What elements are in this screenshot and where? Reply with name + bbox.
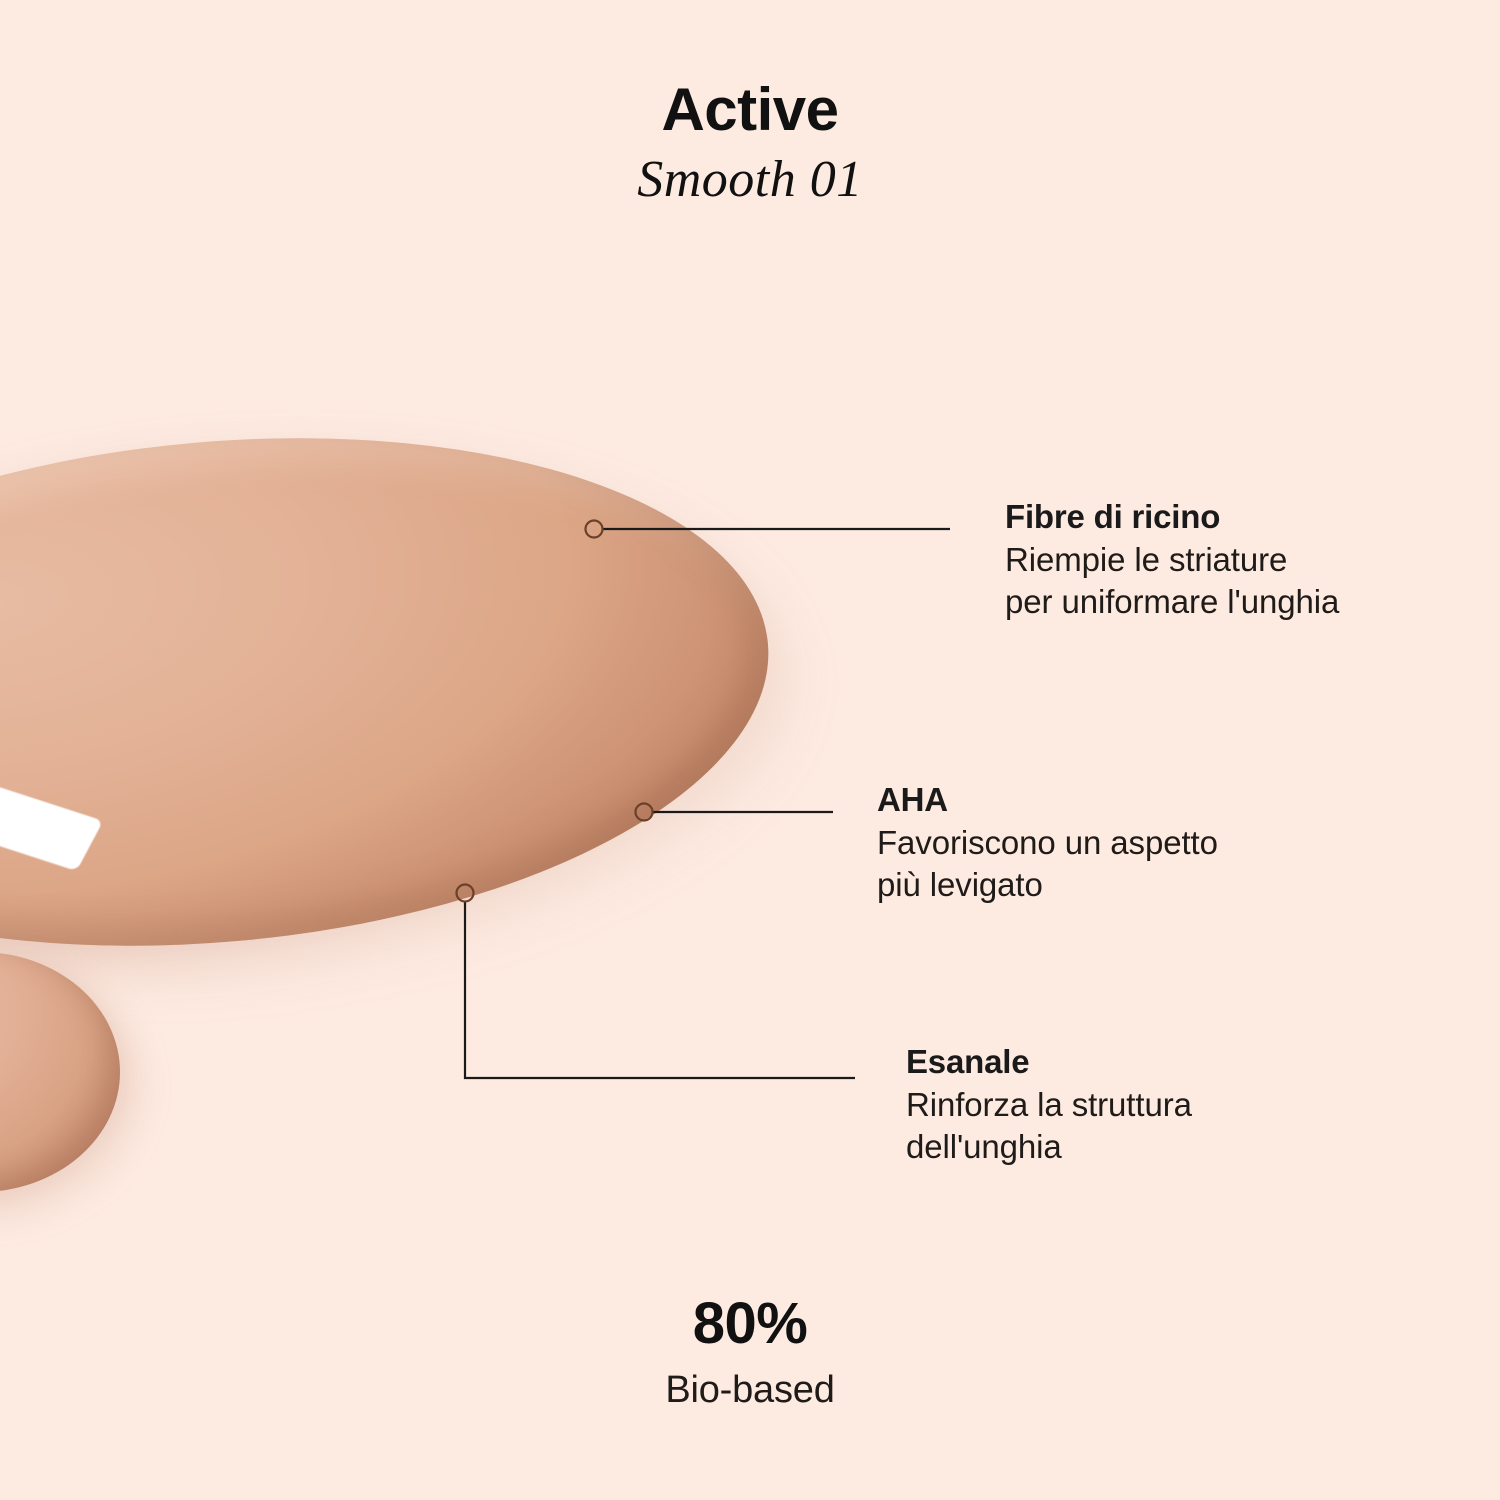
callout-title: Fibre di ricino (1005, 497, 1339, 537)
leader-lines (0, 0, 1500, 1500)
callout-title: Esanale (906, 1042, 1192, 1082)
bio-based-percentage: 80% (0, 1295, 1500, 1353)
callout-desc-line-2: per uniformare l'unghia (1005, 581, 1339, 623)
callout-desc-line-1: Rinforza la struttura (906, 1084, 1192, 1126)
callout-desc-line-2: più levigato (877, 864, 1218, 906)
leader-marker-aha (636, 804, 653, 821)
footer: 80% Bio-based (0, 1295, 1500, 1409)
leader-line-esanale (465, 902, 855, 1078)
bio-based-label: Bio-based (0, 1371, 1500, 1409)
callout-desc-line-1: Riempie le striature (1005, 539, 1339, 581)
callout-desc-line-2: dell'unghia (906, 1126, 1192, 1168)
callout-desc-line-1: Favoriscono un aspetto (877, 822, 1218, 864)
callout-title: AHA (877, 780, 1218, 820)
callout-aha: AHA Favoriscono un aspetto più levigato (877, 780, 1218, 905)
product-ingredient-infographic: Active Smooth 01 Fibre di ricino Riempie… (0, 0, 1500, 1500)
callout-esanale: Esanale Rinforza la struttura dell'unghi… (906, 1042, 1192, 1167)
callout-fibre-di-ricino: Fibre di ricino Riempie le striature per… (1005, 497, 1339, 622)
leader-marker-esanale (457, 885, 474, 902)
leader-marker-fibre-di-ricino (586, 521, 603, 538)
